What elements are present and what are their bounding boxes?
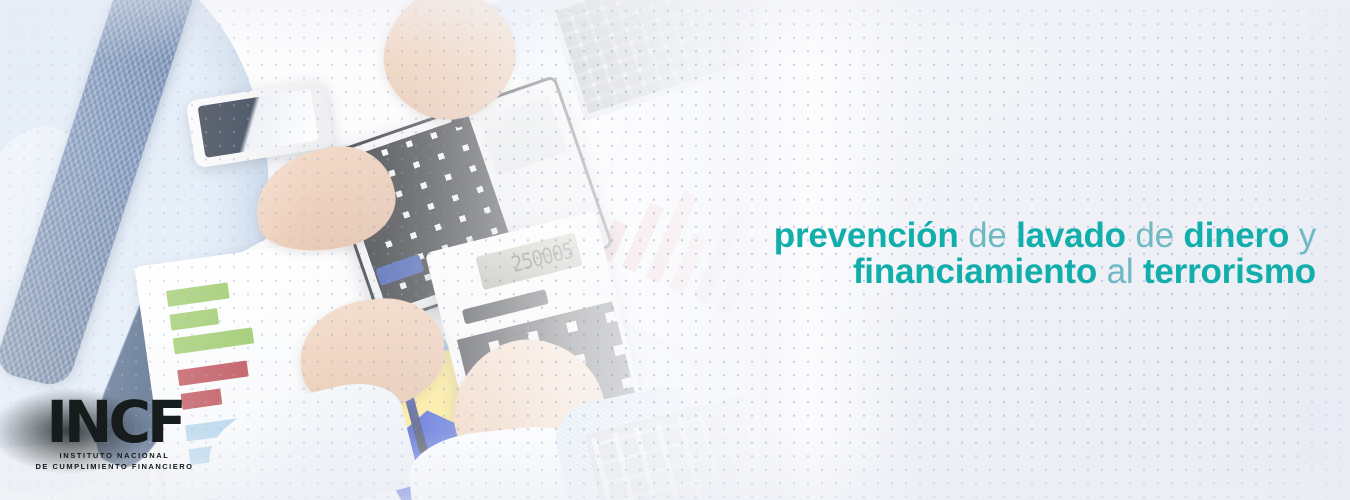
headline-word: prevención xyxy=(774,216,959,255)
headline-word: al xyxy=(1107,252,1134,291)
headline-word: financiamiento xyxy=(853,252,1097,291)
logo-incf[interactable]: INCF INSTITUTO NACIONAL DE CUMPLIMIENTO … xyxy=(22,398,207,471)
headline-word: de xyxy=(968,216,1007,255)
headline: prevención de lavado de dinero y financi… xyxy=(676,218,1316,291)
headline-line-1: prevención de lavado de dinero y xyxy=(676,218,1316,254)
headline-word: de xyxy=(1135,216,1174,255)
logo-subtitle-line-2: DE CUMPLIMIENTO FINANCIERO xyxy=(22,462,207,471)
headline-word: y xyxy=(1299,216,1316,255)
headline-word: terrorismo xyxy=(1143,252,1316,291)
headline-word: dinero xyxy=(1183,216,1289,255)
headline-word: lavado xyxy=(1016,216,1126,255)
headline-line-2: financiamiento al terrorismo xyxy=(676,254,1316,290)
banner-root: 250005 prevención de lavado de dinero y … xyxy=(0,0,1350,500)
logo-wordmark: INCF xyxy=(22,398,207,448)
